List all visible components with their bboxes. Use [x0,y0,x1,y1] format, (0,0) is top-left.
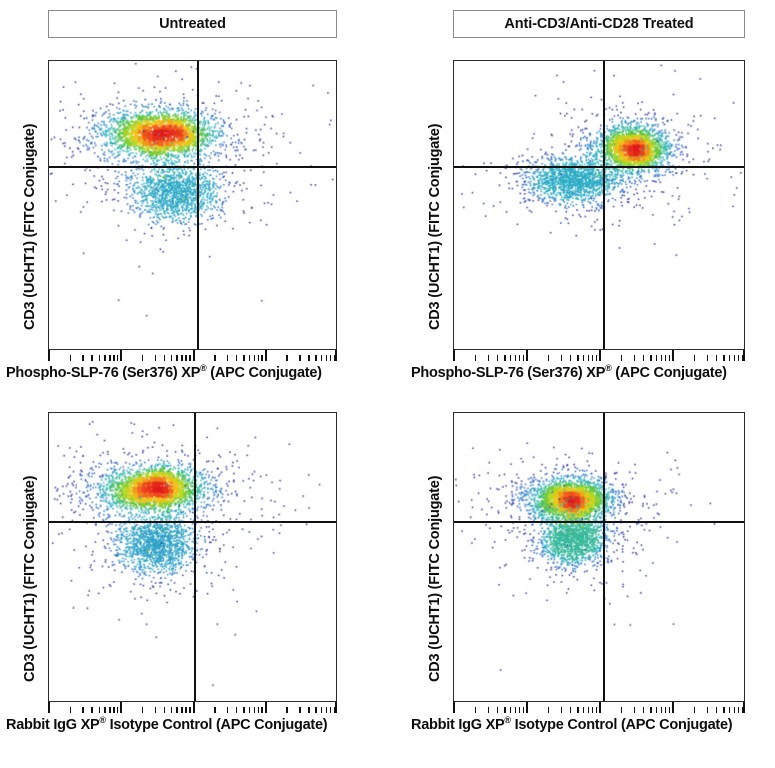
x-axis-tick-minor [570,707,572,713]
quadrant-line-horizontal [49,521,336,523]
y-axis-label-top-left: CD3 (UCHT1) (FITC Conjugate) [22,124,38,330]
column-header-treated: Anti-CD3/Anti-CD28 Treated [453,10,745,38]
x-axis-tick-minor [716,707,718,713]
x-axis-tick-minor [214,355,216,361]
x-axis-tick-minor [254,707,256,713]
plot-panel-top-left [48,60,337,350]
x-axis-tick-minor [665,707,667,713]
x-axis-tick-minor [583,707,585,713]
x-axis-tick-minor [504,355,506,361]
x-axis-tick-minor [661,355,663,361]
x-axis-tick-minor [497,707,499,713]
x-axis-tick-minor [164,355,166,361]
x-axis-tick-major [453,702,455,713]
x-axis-tick-minor [82,355,84,361]
x-axis-tick-major [120,702,122,713]
x-axis-tick-minor [723,707,725,713]
x-axis-tick-minor [515,707,517,713]
x-axis-tick-minor [104,707,106,713]
x-axis-tick-minor [261,355,263,361]
x-axis-tick-minor [734,707,736,713]
quadrant-line-vertical [603,413,605,701]
x-axis-tick-minor [504,707,506,713]
x-axis-tick-minor [142,707,144,713]
x-axis-tick-minor [497,355,499,361]
quadrant-line-horizontal [454,166,744,168]
x-axis-tick-minor [261,707,263,713]
x-axis-tick-minor [117,355,119,361]
x-axis-tick-minor [113,355,115,361]
x-axis-tick-minor [650,355,652,361]
scatter-canvas-bottom-right [454,413,744,701]
y-axis-label-bottom-left: CD3 (UCHT1) (FITC Conjugate) [22,476,38,682]
x-axis-label-suffix: Isotype Control (APC Conjugate) [106,717,328,733]
x-axis-tick-major [599,702,601,713]
x-axis-tick-major [48,350,50,361]
x-axis-tick-minor [315,355,317,361]
x-axis-tick-minor [488,355,490,361]
x-axis-tick-minor [155,355,157,361]
x-axis-tick-minor [254,355,256,361]
x-axis-tick-minor [236,707,238,713]
x-axis-ticks-bottom-right [453,702,745,713]
x-axis-tick-minor [738,355,740,361]
x-axis-tick-minor [142,355,144,361]
column-header-untreated-label: Untreated [159,16,226,32]
x-axis-tick-major [526,702,528,713]
x-axis-tick-minor [109,355,111,361]
x-axis-tick-major [599,350,601,361]
x-axis-tick-minor [227,355,229,361]
x-axis-tick-minor [669,355,671,361]
x-axis-tick-minor [308,355,310,361]
x-axis-label-prefix: Phospho-SLP-76 (Ser376) XP [6,365,200,381]
x-axis-ticks-top-right [453,350,745,361]
x-axis-tick-minor [321,707,323,713]
quadrant-line-vertical [603,61,605,349]
scatter-canvas-top-left [49,61,336,349]
x-axis-tick-minor [236,355,238,361]
column-header-treated-label: Anti-CD3/Anti-CD28 Treated [504,16,693,32]
x-axis-tick-minor [104,355,106,361]
x-axis-tick-minor [113,707,115,713]
x-axis-tick-minor [299,707,301,713]
x-axis-tick-minor [510,355,512,361]
x-axis-tick-minor [475,355,477,361]
x-axis-tick-major [193,702,195,713]
x-axis-tick-minor [694,707,696,713]
quadrant-line-vertical [194,413,196,701]
x-axis-tick-minor [621,707,623,713]
quadrant-line-horizontal [49,166,336,168]
x-axis-tick-minor [583,355,585,361]
x-axis-tick-minor [155,707,157,713]
y-axis-label-text: CD3 (UCHT1) (FITC Conjugate) [22,476,38,682]
y-axis-label-bottom-right: CD3 (UCHT1) (FITC Conjugate) [427,476,443,682]
x-axis-tick-minor [109,707,111,713]
x-axis-label-bottom-right: Rabbit IgG XP® Isotype Control (APC Conj… [411,717,732,733]
x-axis-tick-minor [665,355,667,361]
x-axis-tick-minor [286,355,288,361]
x-axis-label-suffix: (APC Conjugate) [207,365,322,381]
x-axis-tick-minor [729,355,731,361]
x-axis-label-bottom-left: Rabbit IgG XP® Isotype Control (APC Conj… [6,717,327,733]
x-axis-tick-minor [171,707,173,713]
x-axis-tick-minor [716,355,718,361]
y-axis-label-text: CD3 (UCHT1) (FITC Conjugate) [427,124,443,330]
x-axis-tick-minor [634,707,636,713]
x-axis-ticks-bottom-left [48,702,337,713]
x-axis-tick-minor [286,707,288,713]
x-axis-tick-minor [330,707,332,713]
x-axis-tick-minor [561,707,563,713]
x-axis-tick-major [193,350,195,361]
x-axis-tick-minor [561,355,563,361]
x-axis-tick-minor [570,355,572,361]
x-axis-tick-minor [258,355,260,361]
x-axis-tick-major [743,350,745,361]
x-axis-tick-minor [91,355,93,361]
x-axis-tick-minor [592,355,594,361]
x-axis-tick-minor [299,355,301,361]
x-axis-tick-minor [185,355,187,361]
x-axis-tick-minor [592,707,594,713]
x-axis-label-prefix: Rabbit IgG XP [411,717,504,733]
x-axis-tick-minor [523,707,525,713]
x-axis-tick-major [48,702,50,713]
column-header-untreated: Untreated [48,10,337,38]
x-axis-tick-minor [729,707,731,713]
x-axis-tick-minor [577,355,579,361]
y-axis-label-text: CD3 (UCHT1) (FITC Conjugate) [22,124,38,330]
x-axis-tick-minor [326,355,328,361]
x-axis-label-suffix: (APC Conjugate) [612,365,727,381]
x-axis-tick-minor [738,707,740,713]
x-axis-tick-minor [321,355,323,361]
x-axis-tick-minor [243,355,245,361]
x-axis-tick-minor [650,707,652,713]
y-axis-label-text: CD3 (UCHT1) (FITC Conjugate) [427,476,443,682]
x-axis-tick-minor [519,355,521,361]
x-axis-tick-minor [734,355,736,361]
x-axis-tick-minor [510,707,512,713]
x-axis-tick-minor [243,707,245,713]
x-axis-tick-major [335,702,337,713]
x-axis-tick-minor [634,355,636,361]
x-axis-tick-minor [82,707,84,713]
x-axis-tick-major [743,702,745,713]
quadrant-line-horizontal [454,521,744,523]
x-axis-tick-minor [515,355,517,361]
x-axis-tick-minor [669,707,671,713]
x-axis-tick-major [672,350,674,361]
x-axis-tick-minor [70,707,72,713]
x-axis-tick-minor [643,355,645,361]
x-axis-tick-minor [523,355,525,361]
x-axis-tick-minor [181,707,183,713]
x-axis-tick-minor [326,707,328,713]
x-axis-tick-minor [519,707,521,713]
x-axis-tick-minor [189,355,191,361]
scatter-canvas-bottom-left [49,413,336,701]
x-axis-tick-minor [181,355,183,361]
x-axis-tick-minor [176,707,178,713]
x-axis-tick-minor [214,707,216,713]
plot-panel-bottom-right [453,412,745,702]
scatter-canvas-top-right [454,61,744,349]
x-axis-tick-minor [643,707,645,713]
x-axis-tick-minor [70,355,72,361]
x-axis-tick-major [120,350,122,361]
x-axis-tick-minor [171,355,173,361]
x-axis-tick-minor [117,707,119,713]
x-axis-tick-minor [258,707,260,713]
x-axis-tick-minor [488,707,490,713]
x-axis-tick-major [335,350,337,361]
x-axis-tick-major [672,702,674,713]
x-axis-tick-major [526,350,528,361]
x-axis-label-suffix: Isotype Control (APC Conjugate) [511,717,733,733]
plot-panel-bottom-left [48,412,337,702]
x-axis-label-prefix: Phospho-SLP-76 (Ser376) XP [411,365,605,381]
x-axis-tick-minor [661,707,663,713]
x-axis-tick-minor [588,355,590,361]
x-axis-tick-minor [227,707,229,713]
x-axis-tick-minor [330,355,332,361]
x-axis-ticks-top-left [48,350,337,361]
x-axis-tick-minor [707,707,709,713]
x-axis-tick-minor [164,707,166,713]
plot-panel-top-right [453,60,745,350]
x-axis-tick-minor [723,355,725,361]
x-axis-tick-minor [548,707,550,713]
x-axis-tick-major [453,350,455,361]
x-axis-tick-minor [577,707,579,713]
x-axis-tick-minor [588,707,590,713]
x-axis-tick-minor [656,707,658,713]
x-axis-tick-minor [596,355,598,361]
x-axis-tick-minor [99,707,101,713]
x-axis-tick-minor [99,355,101,361]
x-axis-tick-minor [548,355,550,361]
x-axis-tick-minor [189,707,191,713]
x-axis-tick-minor [249,355,251,361]
x-axis-tick-minor [475,707,477,713]
x-axis-tick-minor [656,355,658,361]
x-axis-tick-minor [185,707,187,713]
x-axis-label-top-left: Phospho-SLP-76 (Ser376) XP® (APC Conjuga… [6,365,322,381]
x-axis-tick-minor [315,707,317,713]
quadrant-line-vertical [197,61,199,349]
x-axis-tick-minor [308,707,310,713]
x-axis-label-prefix: Rabbit IgG XP [6,717,99,733]
x-axis-label-top-right: Phospho-SLP-76 (Ser376) XP® (APC Conjuga… [411,365,727,381]
x-axis-tick-minor [707,355,709,361]
y-axis-label-top-right: CD3 (UCHT1) (FITC Conjugate) [427,124,443,330]
x-axis-tick-minor [621,355,623,361]
x-axis-tick-minor [694,355,696,361]
flow-cytometry-figure: Untreated Anti-CD3/Anti-CD28 Treated CD3… [0,0,775,768]
x-axis-tick-minor [596,707,598,713]
x-axis-tick-major [265,350,267,361]
x-axis-tick-major [265,702,267,713]
x-axis-tick-minor [176,355,178,361]
x-axis-tick-minor [249,707,251,713]
x-axis-tick-minor [91,707,93,713]
